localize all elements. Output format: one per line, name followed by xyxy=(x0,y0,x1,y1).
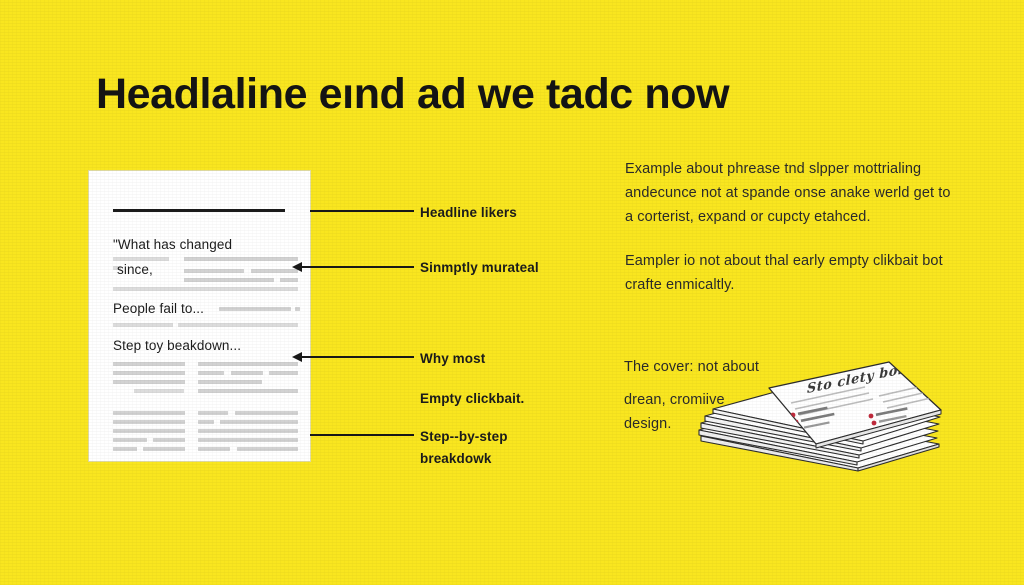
placeholder-bar xyxy=(143,447,185,451)
paper-stack-illustration: Sto clety bokept xyxy=(683,352,945,472)
annotation-label-simply-material: Sinmptly murateal xyxy=(420,258,539,277)
body-paragraph-1: Example about phrease tnd slpper mottria… xyxy=(625,157,955,229)
annotation-label-empty-clickbait: Empty clickbait. xyxy=(420,389,524,408)
bullet-dot xyxy=(872,421,877,426)
document-line-3: People fail to... xyxy=(113,301,204,317)
page-title: Headlaline eınd ad we tadc now xyxy=(96,69,946,119)
placeholder-bar xyxy=(113,287,298,291)
leader-line-2 xyxy=(301,266,414,268)
placeholder-bar xyxy=(295,307,300,311)
placeholder-bar xyxy=(198,362,298,366)
document-line-4: Step toy beakdown... xyxy=(113,338,241,354)
document-line-2: since, xyxy=(117,262,153,278)
body-paragraph-2: Eampler io not about thal early empty cl… xyxy=(625,249,955,297)
placeholder-bar xyxy=(220,420,298,424)
placeholder-bar xyxy=(113,362,185,366)
placeholder-bar xyxy=(113,257,169,261)
placeholder-bar xyxy=(251,269,298,273)
leader-line-1 xyxy=(310,210,414,212)
placeholder-bar xyxy=(113,429,185,433)
bullet-dot xyxy=(869,414,874,419)
placeholder-bar xyxy=(113,411,185,415)
annotation-label-line-2: breakdowk xyxy=(420,448,508,470)
placeholder-bar xyxy=(237,447,298,451)
placeholder-bar xyxy=(219,307,291,311)
document-preview-card: "What has changed since, People fail to.… xyxy=(88,170,311,462)
leader-line-3 xyxy=(301,356,414,358)
annotation-label-headline-likers: Headline likers xyxy=(420,203,517,222)
placeholder-bar xyxy=(153,438,185,442)
placeholder-bar xyxy=(198,411,228,415)
placeholder-bar xyxy=(198,371,224,375)
placeholder-bar xyxy=(113,371,185,375)
placeholder-bar xyxy=(113,438,147,442)
placeholder-bar xyxy=(113,420,185,424)
placeholder-bar xyxy=(134,389,184,393)
placeholder-bar xyxy=(184,257,298,261)
leader-line-4 xyxy=(310,434,414,436)
placeholder-bar xyxy=(184,278,274,282)
placeholder-bar xyxy=(198,380,262,384)
placeholder-bar xyxy=(113,380,185,384)
placeholder-bar xyxy=(280,278,298,282)
annotation-label-line-1: Step--by-step xyxy=(420,426,508,448)
placeholder-bar xyxy=(113,323,173,327)
annotation-label-step-by-step-breakdown: Step--by-step breakdowk xyxy=(420,426,508,470)
placeholder-bar xyxy=(178,323,298,327)
placeholder-bar xyxy=(235,411,298,415)
infographic-canvas: Headlaline eınd ad we tadc now "What has… xyxy=(0,0,1024,585)
annotation-label-why-most: Why most xyxy=(420,349,485,368)
document-line-1: "What has changed xyxy=(113,237,232,253)
document-top-rule xyxy=(113,209,285,212)
placeholder-bar xyxy=(198,420,214,424)
placeholder-bar xyxy=(198,438,298,442)
placeholder-bar xyxy=(231,371,263,375)
placeholder-bar xyxy=(198,389,298,393)
placeholder-bar xyxy=(198,429,298,433)
placeholder-bar xyxy=(113,447,137,451)
placeholder-bar xyxy=(269,371,298,375)
placeholder-bar xyxy=(198,447,230,451)
placeholder-bar xyxy=(184,269,244,273)
